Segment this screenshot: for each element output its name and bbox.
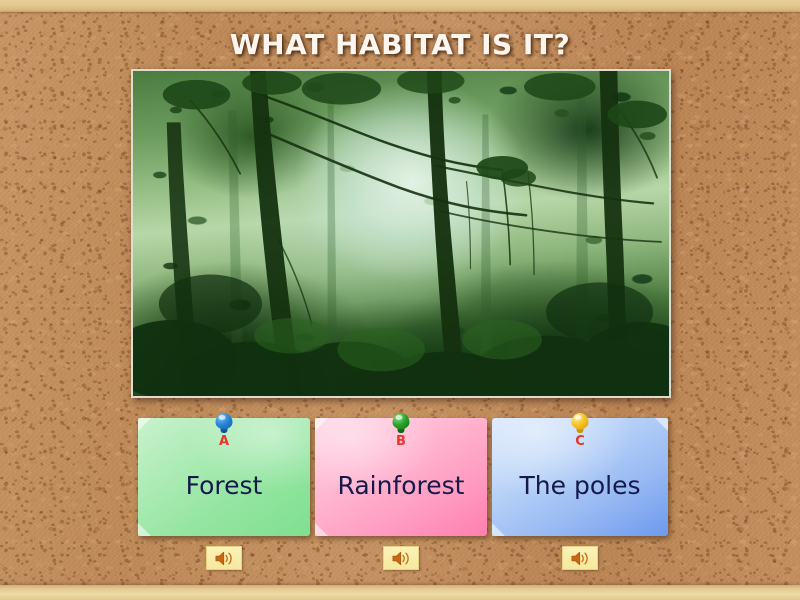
speaker-icon [215, 551, 234, 566]
answer-card-b[interactable]: B Rainforest [315, 418, 487, 536]
speaker-icon [392, 551, 411, 566]
page-title: WHAT HABITAT IS IT? [0, 28, 800, 61]
pin-yellow-icon [572, 413, 589, 434]
answer-letter-c: C [492, 434, 668, 449]
audio-button-b[interactable] [383, 546, 419, 570]
audio-button-a[interactable] [206, 546, 242, 570]
rainforest-photo-detail [133, 71, 669, 396]
pin-green-icon [393, 413, 410, 434]
answer-card-a[interactable]: A Forest [138, 418, 310, 536]
wood-frame-bottom [0, 585, 800, 600]
pin-blue-icon [216, 413, 233, 434]
wood-frame-top [0, 0, 800, 12]
answer-card-c[interactable]: C The poles [492, 418, 668, 536]
answer-letter-a: A [138, 434, 310, 449]
answer-letter-b: B [315, 434, 487, 449]
speaker-icon [571, 551, 590, 566]
audio-button-c[interactable] [562, 546, 598, 570]
question-image-frame [131, 69, 671, 398]
